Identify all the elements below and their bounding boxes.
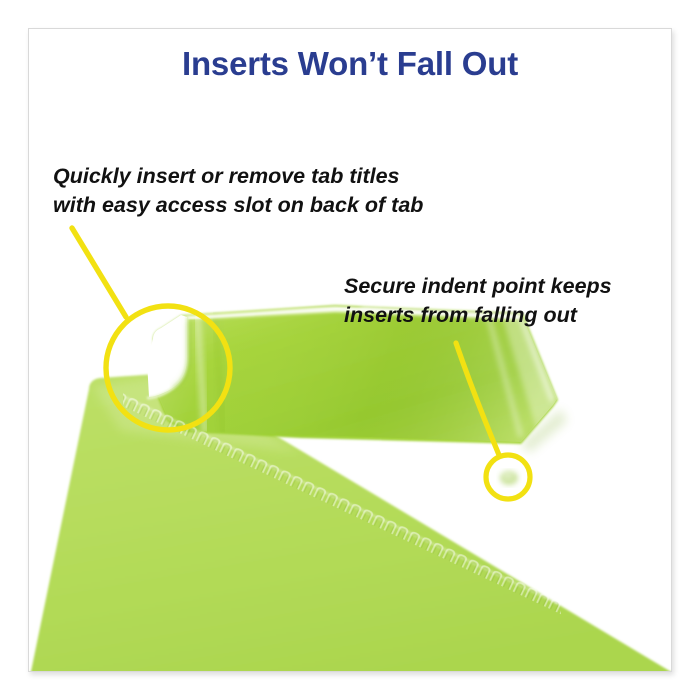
photo-frame [28, 28, 672, 672]
product-feature-image: Inserts Won’t Fall Out Quickly insert or… [0, 0, 700, 700]
callout-label-indent-point: Secure indent point keeps inserts from f… [344, 272, 612, 330]
callout-line: Secure indent point keeps [344, 272, 612, 301]
callout-label-access-slot: Quickly insert or remove tab titles with… [53, 162, 423, 220]
callout-line: Quickly insert or remove tab titles [53, 162, 423, 191]
page-title: Inserts Won’t Fall Out [0, 46, 700, 82]
product-photo [28, 28, 672, 672]
callout-line: with easy access slot on back of tab [53, 191, 423, 220]
indent-point-dimple [500, 471, 518, 485]
callout-line: inserts from falling out [344, 301, 612, 330]
